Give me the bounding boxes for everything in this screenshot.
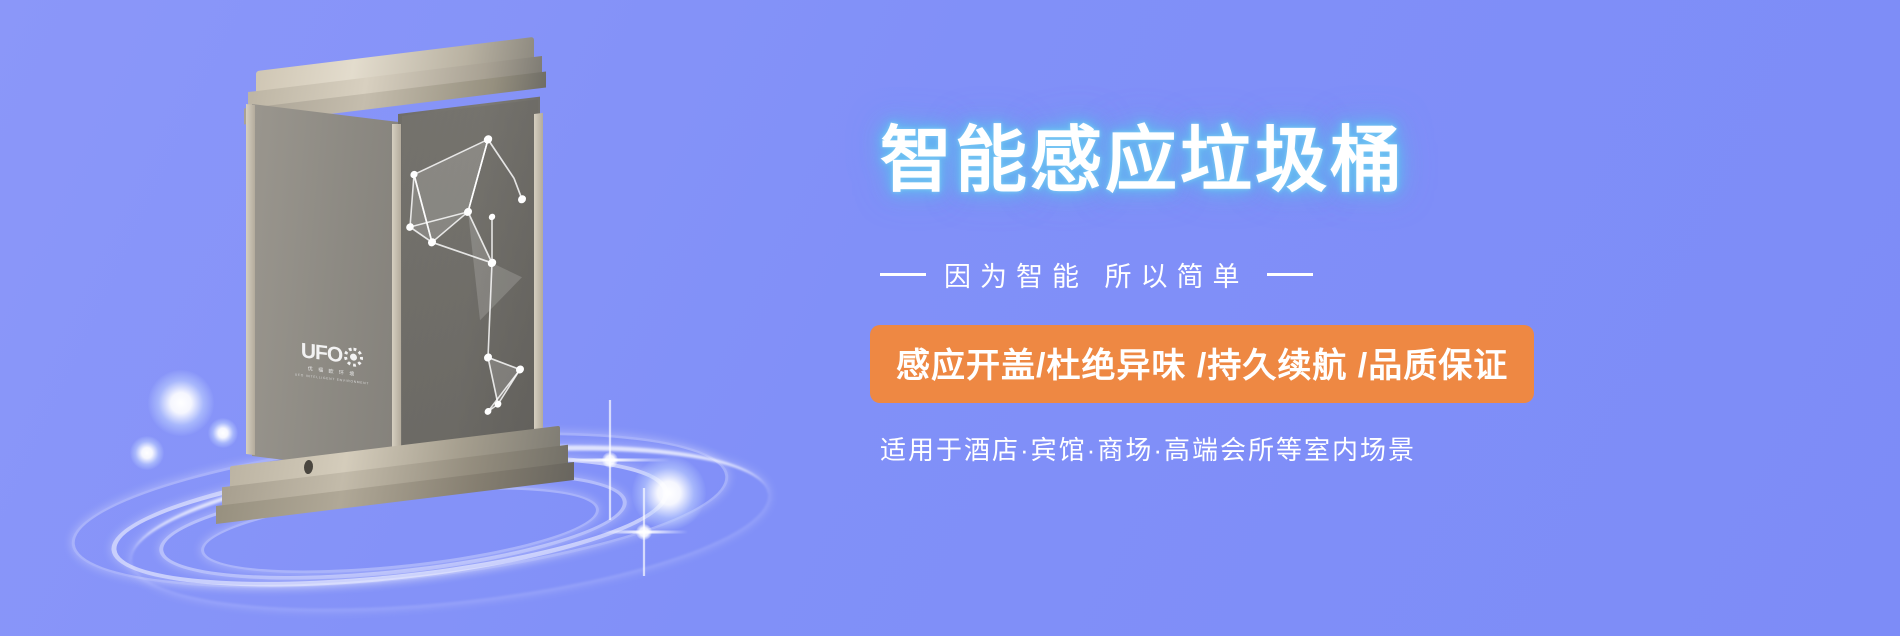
glow-orb-left [148, 370, 214, 436]
low-poly-network-icon [402, 99, 538, 452]
body-panel-left [252, 104, 400, 474]
tagline-text: 因为智能 所以简单 [944, 255, 1249, 294]
banner-title: 智能感应垃圾桶 [880, 125, 1580, 197]
corner-edge-right [534, 113, 543, 454]
sparkle-star-lower [600, 488, 688, 576]
banner-tagline: 因为智能 所以简单 [880, 255, 1580, 294]
glow-orb-left-small [130, 436, 164, 470]
promo-banner: UFO 优 福 欧 环 境 UFO INTELLIGENT ENVIRONMEN… [0, 0, 1900, 636]
smart-trash-can: UFO 优 福 欧 环 境 UFO INTELLIGENT ENVIRONMEN… [220, 48, 570, 508]
network-graphic-panel [402, 99, 538, 452]
logo-ring-icon [344, 346, 363, 367]
corner-edge-center [392, 124, 401, 464]
tagline-rule-right [1267, 273, 1313, 276]
logo-wordmark: UFO [301, 340, 342, 366]
product-stage: UFO 优 福 欧 环 境 UFO INTELLIGENT ENVIRONMEN… [40, 0, 860, 636]
tagline-rule-left [880, 273, 926, 276]
copy-block: 智能感应垃圾桶 因为智能 所以简单 感应开盖/杜绝异味 /持久续航 /品质保证 … [880, 0, 1880, 636]
feature-badge: 感应开盖/杜绝异味 /持久续航 /品质保证 [870, 325, 1534, 403]
corner-edge-left [246, 104, 255, 455]
usage-scenarios-text: 适用于酒店·宾馆·商场·高端会所等室内场景 [880, 430, 1640, 467]
